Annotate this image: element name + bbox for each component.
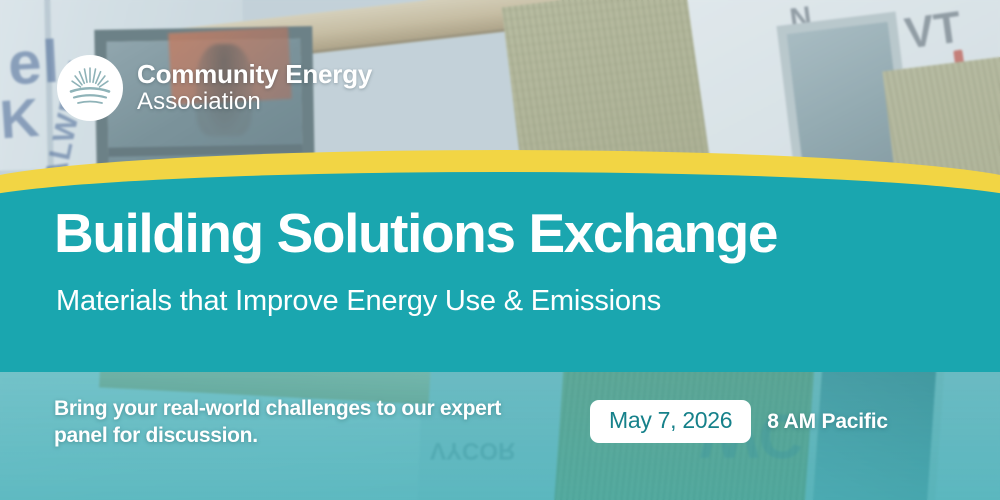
logo-wordmark: Community Energy Association [137, 61, 372, 116]
event-date-badge: May 7, 2026 [590, 400, 751, 443]
event-schedule: May 7, 2026 8 AM Pacific [590, 400, 888, 443]
webinar-promo-banner: el K ALWRAI VT N VYCOR WC [0, 0, 1000, 500]
organization-logo[interactable]: Community Energy Association [57, 55, 372, 121]
banner-content: Community Energy Association Building So… [0, 0, 1000, 500]
page-title: Building Solutions Exchange [54, 205, 777, 263]
page-subtitle: Materials that Improve Energy Use & Emis… [56, 285, 661, 318]
sunburst-over-horizon-icon [57, 55, 123, 121]
logo-line-1: Community Energy [137, 61, 372, 87]
event-time-label: 8 AM Pacific [767, 410, 888, 434]
promo-blurb: Bring your real-world challenges to our … [54, 396, 554, 450]
logo-line-2: Association [137, 90, 372, 114]
